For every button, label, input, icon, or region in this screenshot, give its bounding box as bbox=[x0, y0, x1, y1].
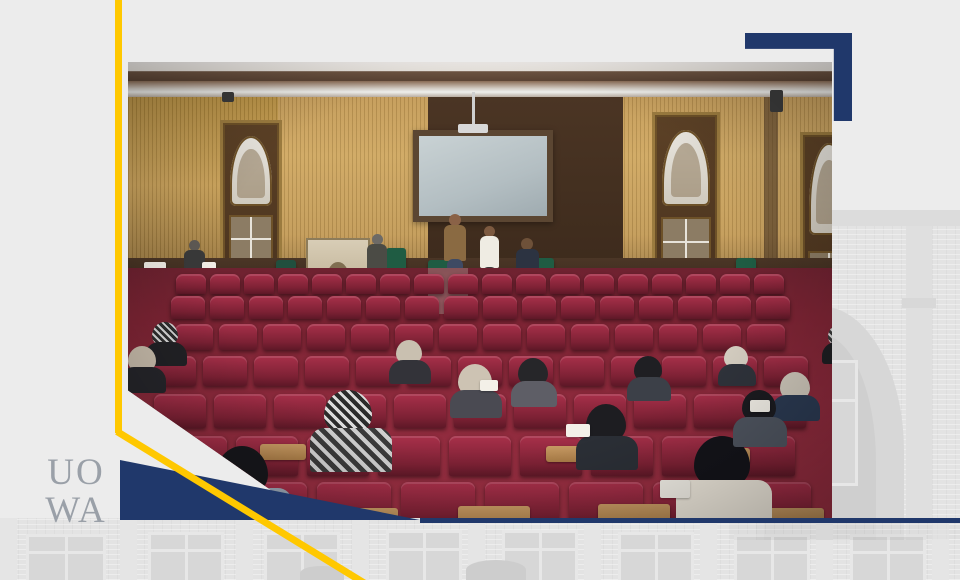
ceiling-speaker-left bbox=[222, 92, 234, 102]
desk-tablet bbox=[458, 506, 530, 518]
banner-canvas: UO WA bbox=[0, 0, 960, 580]
yellow-vertical-rule bbox=[115, 0, 122, 433]
building-facade-watermark bbox=[0, 518, 960, 580]
projector bbox=[458, 124, 488, 133]
ceiling-speaker-right bbox=[770, 90, 783, 112]
desk-tablet bbox=[768, 508, 824, 518]
logo-text-line-1: UO bbox=[28, 455, 124, 491]
audience-seating bbox=[128, 268, 832, 518]
navy-baseline-rule bbox=[420, 518, 960, 523]
seat-row bbox=[128, 274, 832, 294]
answer-sheet bbox=[750, 400, 770, 412]
logo-text-line-2: WA bbox=[28, 491, 124, 531]
seat-row bbox=[128, 324, 832, 350]
answer-sheet bbox=[660, 480, 690, 498]
uowa-logo[interactable]: UO WA bbox=[28, 455, 124, 539]
auditorium-photo bbox=[128, 62, 832, 518]
projector-rod bbox=[472, 92, 475, 126]
desk-tablet bbox=[598, 504, 670, 518]
answer-sheet bbox=[480, 380, 498, 391]
ceiling bbox=[128, 62, 832, 88]
projection-screen bbox=[413, 130, 553, 222]
desk-tablet bbox=[260, 444, 306, 460]
answer-sheet bbox=[566, 424, 590, 437]
seat-row bbox=[128, 296, 832, 319]
